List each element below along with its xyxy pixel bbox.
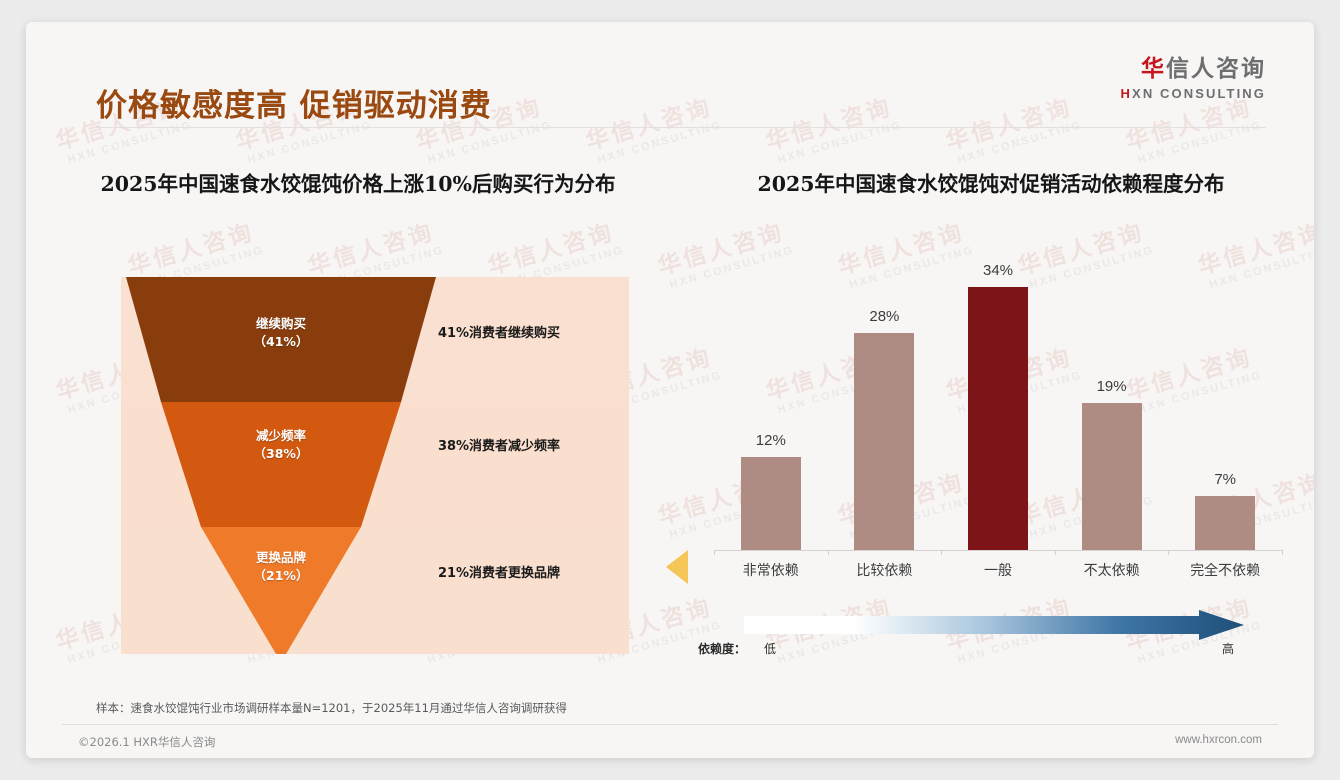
funnel-note-2: 38%消费者减少频率 (389, 435, 609, 454)
axis-tick (828, 550, 829, 555)
category-label-2: 比较依赖 (829, 560, 939, 580)
category-label-4: 不太依赖 (1057, 560, 1167, 580)
axis-tick (1055, 550, 1056, 555)
funnel-segment-name-2: 减少频率 (211, 427, 351, 445)
funnel-segment-value-3: （21%） (211, 567, 351, 585)
logo-cn-rest: 信人咨询 (1166, 56, 1266, 82)
bar-column: 12% (741, 240, 801, 550)
bar-2 (854, 333, 914, 550)
funnel-segment-label-2: 减少频率（38%） (211, 427, 351, 463)
bar-value-label-3: 34% (968, 262, 1028, 279)
funnel-segment-name-3: 更换品牌 (211, 549, 351, 567)
slide-card: 华信人咨询HXN CONSULTING华信人咨询HXN CONSULTING华信… (26, 22, 1314, 758)
bar-4 (1082, 403, 1142, 550)
footer-copyright: ©2026.1 HXR华信人咨询 (78, 734, 215, 750)
bar-value-label-4: 19% (1082, 378, 1142, 395)
footer-website: www.hxrcon.com (1175, 734, 1262, 746)
axis-tick (941, 550, 942, 555)
legend-high-label: 高 (1222, 640, 1234, 657)
funnel-segment-3 (201, 527, 361, 654)
funnel-segment-2 (161, 402, 401, 527)
gradient-arrow-svg (744, 610, 1244, 640)
axis-tick (714, 550, 715, 555)
bar-value-label-2: 28% (854, 308, 914, 325)
bar-chart-axis (714, 550, 1282, 551)
left-chart-title: 2025年中国速食水饺馄饨价格上涨10%后购买行为分布 (56, 170, 660, 200)
funnel-segment-value-1: （41%） (211, 333, 351, 351)
logo-cn-highlight: 华 (1141, 56, 1166, 82)
sample-note: 样本：速食水饺馄饨行业市场调研样本量N=1201，于2025年11月通过华信人咨… (96, 700, 567, 716)
right-chart-panel: 2025年中国速食水饺馄饨对促销活动依赖程度分布 12%28%34%19%7% … (686, 140, 1296, 680)
bar-column: 7% (1195, 240, 1255, 550)
slide-header: 价格敏感度高 促销驱动消费 华信人咨询 HXN CONSULTING (26, 22, 1314, 127)
category-label-1: 非常依赖 (716, 560, 826, 580)
bar-column: 34% (968, 240, 1028, 550)
funnel-segment-name-1: 继续购买 (211, 315, 351, 333)
axis-tick (1168, 550, 1169, 555)
legend-low-label: 低 (764, 640, 776, 657)
bar-3 (968, 287, 1028, 551)
bar-value-label-5: 7% (1195, 471, 1255, 488)
bar-column: 28% (854, 240, 914, 550)
funnel-note-1: 41%消费者继续购买 (389, 322, 609, 341)
gradient-arrow-icon (744, 610, 1244, 645)
category-label-3: 一般 (943, 560, 1053, 580)
funnel-segment-label-3: 更换品牌（21%） (211, 549, 351, 585)
charts-container: 2025年中国速食水饺馄饨价格上涨10%后购买行为分布 继续购买（41%）减少频… (26, 140, 1314, 680)
right-chart-title: 2025年中国速食水饺馄饨对促销活动依赖程度分布 (686, 170, 1296, 200)
play-left-triangle-icon (666, 550, 688, 584)
funnel-note-3: 21%消费者更换品牌 (389, 562, 609, 581)
logo-english-text: HXN CONSULTING (1121, 86, 1266, 101)
footer-divider (62, 724, 1278, 725)
funnel-segment-value-2: （38%） (211, 445, 351, 463)
left-chart-panel: 2025年中国速食水饺馄饨价格上涨10%后购买行为分布 继续购买（41%）减少频… (48, 140, 668, 680)
dependency-gradient-legend: 依赖度： 低 高 (686, 602, 1296, 672)
legend-caption: 依赖度： (698, 640, 746, 657)
bar-5 (1195, 496, 1255, 550)
bar-chart-plot: 12%28%34%19%7% (714, 240, 1282, 550)
bar-column: 19% (1082, 240, 1142, 550)
axis-tick (1282, 550, 1283, 555)
logo-en-rest: XN CONSULTING (1132, 86, 1266, 101)
category-label-5: 完全不依赖 (1170, 560, 1280, 580)
header-divider (96, 127, 1266, 128)
bar-1 (741, 457, 801, 550)
page-title: 价格敏感度高 促销驱动消费 (96, 80, 492, 125)
bar-value-label-1: 12% (741, 432, 801, 449)
funnel-segment-label-1: 继续购买（41%） (211, 315, 351, 351)
logo-en-highlight: H (1121, 86, 1133, 101)
company-logo: 华信人咨询 HXN CONSULTING (1121, 57, 1266, 101)
logo-chinese-text: 华信人咨询 (1121, 57, 1266, 82)
funnel-chart: 继续购买（41%）减少频率（38%）更换品牌（21%）41%消费者继续购买38%… (121, 277, 629, 654)
